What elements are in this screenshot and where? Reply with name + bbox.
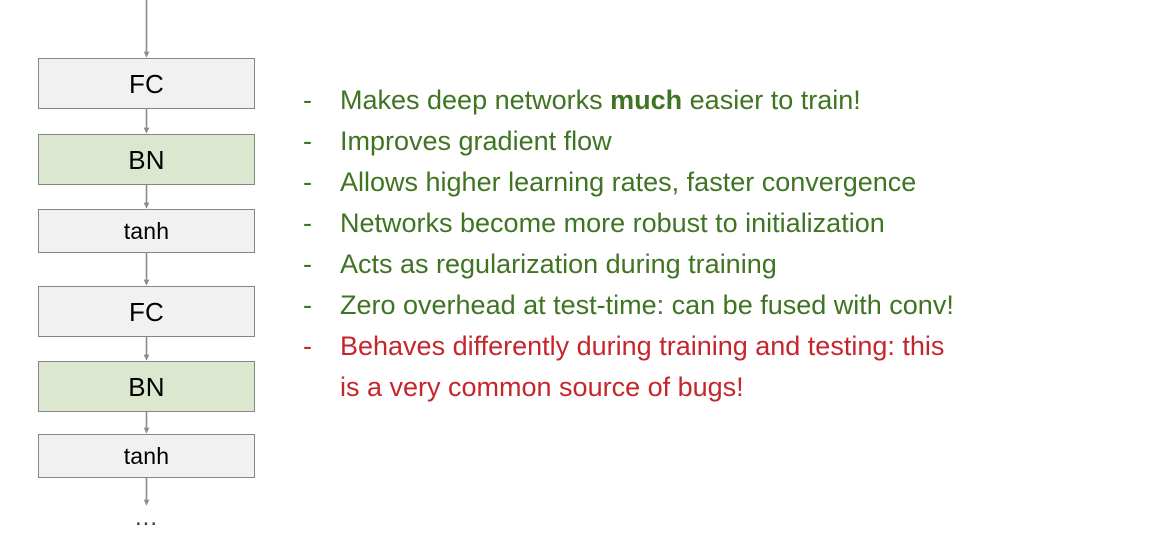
bullet-dash-icon: - — [296, 285, 340, 326]
diagram-node-label: tanh — [124, 220, 170, 243]
bullet-item-allows-higher-learning-rates: - Allows higher learning rates, faster c… — [296, 162, 1152, 203]
diagram-continuation-ellipsis: ... — [38, 506, 255, 530]
bullet-dash-icon: - — [296, 244, 340, 285]
bullet-text: Zero overhead at test-time: can be fused… — [340, 285, 1152, 326]
network-diagram: FC BN tanh FC BN tanh ... — [0, 0, 290, 536]
bullet-dash-icon: - — [296, 162, 340, 203]
slide-root: FC BN tanh FC BN tanh ... - Makes deep n… — [0, 0, 1152, 536]
bullet-dash-icon: - — [296, 203, 340, 244]
diagram-node-label: FC — [129, 299, 164, 325]
bullet-item-makes-deep-networks-easier: - Makes deep networks much easier to tra… — [296, 80, 1152, 121]
bullet-item-acts-as-regularization: - Acts as regularization during training — [296, 244, 1152, 285]
bullet-dash-icon: - — [296, 326, 340, 367]
diagram-node-label: tanh — [124, 445, 170, 468]
bullet-item-robust-to-initialization: - Networks become more robust to initial… — [296, 203, 1152, 244]
bullet-text: Acts as regularization during training — [340, 244, 1152, 285]
diagram-node-bn-2[interactable]: BN — [38, 361, 255, 412]
bullet-text-emphasis: much — [610, 85, 682, 115]
bullet-item-improves-gradient-flow: - Improves gradient flow — [296, 121, 1152, 162]
diagram-node-tanh-1[interactable]: tanh — [38, 209, 255, 253]
diagram-node-label: FC — [129, 71, 164, 97]
bullet-text: Makes deep networks much easier to train… — [340, 80, 1152, 121]
bullet-text: Behaves differently during training and … — [340, 326, 1152, 408]
diagram-node-label: BN — [128, 374, 165, 400]
bullet-text: Networks become more robust to initializ… — [340, 203, 1152, 244]
diagram-node-fc-2[interactable]: FC — [38, 286, 255, 337]
diagram-node-tanh-2[interactable]: tanh — [38, 434, 255, 478]
bullet-dash-icon: - — [296, 121, 340, 162]
bullet-item-behaves-differently-train-test: - Behaves differently during training an… — [296, 326, 1152, 408]
bullet-item-zero-overhead-test-time: - Zero overhead at test-time: can be fus… — [296, 285, 1152, 326]
bullet-text-pre: Makes deep networks — [340, 85, 610, 115]
bullet-text-post: easier to train! — [682, 85, 861, 115]
diagram-node-label: BN — [128, 147, 165, 173]
bullet-text: Improves gradient flow — [340, 121, 1152, 162]
benefits-bullet-list: - Makes deep networks much easier to tra… — [296, 80, 1152, 408]
bullet-text-line-1: Behaves differently during training and … — [340, 326, 1152, 367]
bullet-text: Allows higher learning rates, faster con… — [340, 162, 1152, 203]
diagram-node-bn-1[interactable]: BN — [38, 134, 255, 185]
bullet-dash-icon: - — [296, 80, 340, 121]
diagram-node-fc-1[interactable]: FC — [38, 58, 255, 109]
bullet-text-line-2: is a very common source of bugs! — [340, 367, 1152, 408]
